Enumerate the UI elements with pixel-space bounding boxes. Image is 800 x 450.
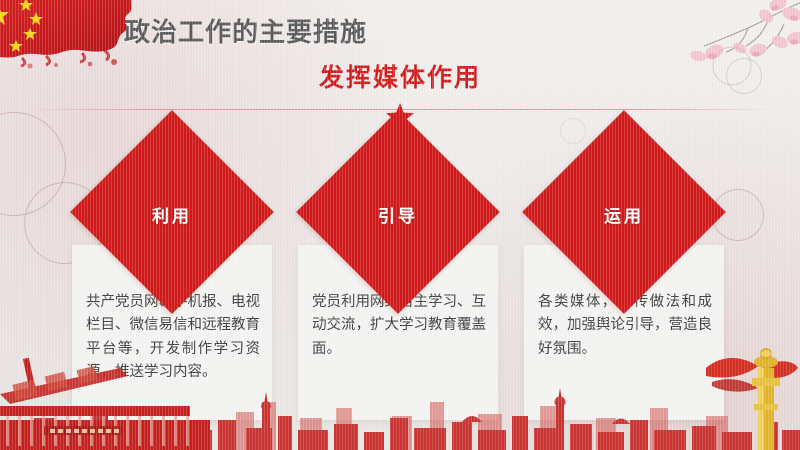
page-subtitle: 发挥媒体作用: [0, 58, 800, 94]
diamond-badge-label: 利用: [72, 202, 272, 227]
slide-canvas: 政治工作的主要措施 发挥媒体作用 共产党员网、手机报、电视栏目、微信易信和远程教…: [0, 0, 800, 450]
diamond-badge-label: 运用: [524, 202, 724, 227]
huabiao-column-icon: [702, 346, 798, 450]
diamond-badge-label: 引导: [298, 202, 498, 227]
tiananmen-gate-icon: [0, 354, 250, 450]
page-title: 政治工作的主要措施: [124, 12, 367, 49]
